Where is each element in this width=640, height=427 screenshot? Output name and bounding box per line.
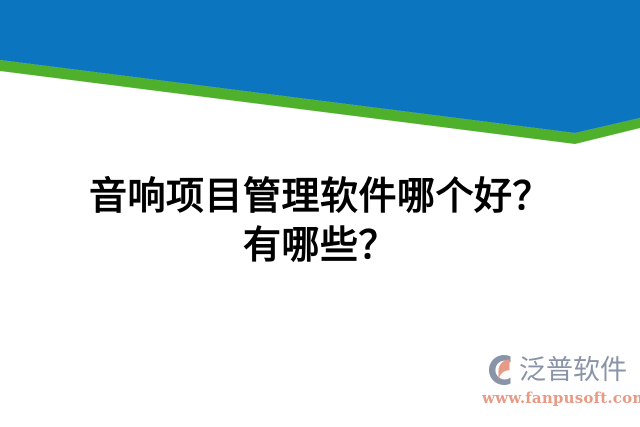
- promo-banner: 音响项目管理软件哪个好？ 有哪些？ 泛普软件 www.fanpusoft.com: [0, 0, 640, 427]
- title-line-1: 音响项目管理软件哪个好？: [0, 172, 640, 221]
- watermark-brand: 泛普软件: [480, 351, 627, 389]
- fanpu-logo-icon: [480, 352, 516, 388]
- watermark-brand-name: 泛普软件: [519, 357, 627, 384]
- watermark-url: www.fanpusoft.com: [482, 389, 640, 407]
- title-line-2: 有哪些？: [0, 221, 640, 270]
- header-banner-graphic: [0, 0, 640, 150]
- header-blue-shape: [0, 0, 640, 133]
- page-title: 音响项目管理软件哪个好？ 有哪些？: [0, 172, 640, 271]
- watermark: 泛普软件 www.fanpusoft.com: [480, 351, 632, 413]
